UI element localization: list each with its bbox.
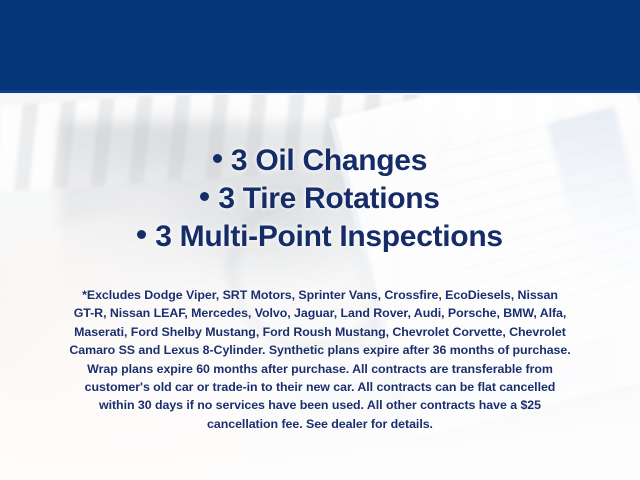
bullet-dot-icon (200, 192, 209, 201)
disclaimer-line: within 30 days if no services have been … (24, 396, 616, 414)
list-item: 3 Multi-Point Inspections (0, 218, 640, 256)
list-item-label: 3 Multi-Point Inspections (155, 220, 503, 253)
disclaimer-line: Camaro SS and Lexus 8-Cylinder. Syntheti… (24, 341, 616, 359)
header-hairline (0, 93, 640, 95)
bullet-dot-icon (137, 230, 146, 239)
extracare-package-ad: ExtraCare Package* 3 Oil Changes 3 Tire … (0, 0, 640, 480)
disclaimer-line: *Excludes Dodge Viper, SRT Motors, Sprin… (24, 286, 616, 304)
list-item-label: 3 Tire Rotations (218, 182, 439, 215)
list-item: 3 Oil Changes (0, 142, 640, 180)
disclaimer-text: *Excludes Dodge Viper, SRT Motors, Sprin… (24, 286, 616, 433)
header-band (0, 0, 640, 90)
disclaimer-line: cancellation fee. See dealer for details… (24, 415, 616, 433)
disclaimer-line: Wrap plans expire 60 months after purcha… (24, 360, 616, 378)
bullet-dot-icon (213, 154, 222, 163)
features-list: 3 Oil Changes 3 Tire Rotations 3 Multi-P… (0, 142, 640, 256)
disclaimer-line: customer's old car or trade-in to their … (24, 378, 616, 396)
disclaimer-line: GT-R, Nissan LEAF, Mercedes, Volvo, Jagu… (24, 304, 616, 322)
list-item: 3 Tire Rotations (0, 180, 640, 218)
list-item-label: 3 Oil Changes (231, 144, 427, 177)
disclaimer-line: Maserati, Ford Shelby Mustang, Ford Rous… (24, 323, 616, 341)
